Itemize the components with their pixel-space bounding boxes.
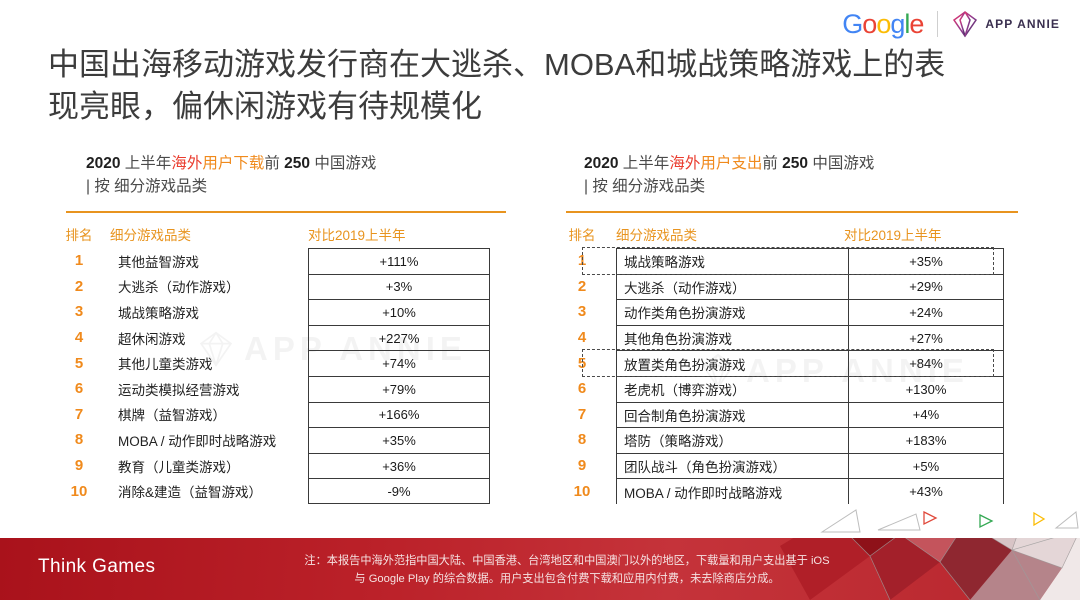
category-cell: 大逃杀（动作游戏） (616, 274, 848, 300)
category-cell: 运动类模拟经营游戏 (110, 376, 308, 402)
category-cell: 城战策略游戏 (110, 299, 308, 325)
table-row[interactable]: 9团队战斗（角色扮演游戏）+5% (548, 453, 1030, 479)
title-run: 前 (762, 155, 782, 172)
rank-cell: 3 (48, 299, 110, 325)
google-logo: Google (842, 11, 923, 38)
rank-cell: 3 (548, 299, 616, 325)
revenue-panel: 2020 上半年海外用户支出前 250 中国游戏 | 按 细分游戏品类 排名 细… (548, 152, 1030, 504)
growth-cell: +10% (308, 299, 490, 325)
table-row[interactable]: 3动作类角色扮演游戏+24% (548, 299, 1030, 325)
title-run: 2020 (584, 155, 623, 172)
app-annie-label: APP ANNIE (985, 17, 1060, 31)
rank-cell: 8 (548, 427, 616, 453)
growth-cell: +5% (848, 453, 1004, 479)
downloads-panel-title: 2020 上半年海外用户下载前 250 中国游戏 | 按 细分游戏品类 (48, 152, 510, 199)
growth-cell: +84% (848, 350, 1004, 376)
category-cell: 其他益智游戏 (110, 248, 308, 274)
table-row[interactable]: 6运动类模拟经营游戏+79% (48, 376, 510, 402)
rank-cell: 4 (48, 325, 110, 351)
title-run: 250 (782, 155, 808, 172)
column-header-value: 对比2019上半年 (308, 224, 498, 244)
column-header-rank: 排名 (48, 224, 110, 244)
table-row[interactable]: 8MOBA / 动作即时战略游戏+35% (48, 427, 510, 453)
growth-cell: +43% (848, 478, 1004, 504)
column-header-name: 细分游戏品类 (110, 224, 308, 244)
table-row[interactable]: 10MOBA / 动作即时战略游戏+43% (548, 478, 1030, 504)
downloads-column-headers: 排名 细分游戏品类 对比2019上半年 (48, 224, 510, 244)
category-cell: 大逃杀（动作游戏） (110, 274, 308, 300)
category-cell: 消除&建造（益智游戏） (110, 478, 308, 504)
category-cell: 回合制角色扮演游戏 (616, 402, 848, 428)
rank-cell: 7 (548, 402, 616, 428)
growth-cell: +227% (308, 325, 490, 351)
title-run: 用户支出 (700, 155, 762, 172)
downloads-panel: 2020 上半年海外用户下载前 250 中国游戏 | 按 细分游戏品类 排名 细… (48, 152, 510, 504)
rank-cell: 1 (548, 248, 616, 274)
growth-cell: +36% (308, 453, 490, 479)
title-run: 上半年 (623, 155, 670, 172)
growth-cell: +183% (848, 427, 1004, 453)
title-run: 中国游戏 (310, 155, 376, 172)
growth-cell: +35% (308, 427, 490, 453)
rank-cell: 10 (548, 478, 616, 504)
table-row[interactable]: 6老虎机（博弈游戏）+130% (548, 376, 1030, 402)
footer-note-line-1: 注：本报告中海外范指中国大陆、中国香港、台湾地区和中国澳门以外的地区，下载量和用… (172, 552, 962, 570)
logo-bar: Google APP ANNIE (842, 10, 1060, 38)
table-row[interactable]: 4其他角色扮演游戏+27% (548, 325, 1030, 351)
rank-cell: 5 (548, 350, 616, 376)
title-run: 用户下载 (202, 155, 264, 172)
category-cell: 塔防（策略游戏） (616, 427, 848, 453)
rank-cell: 4 (548, 325, 616, 351)
growth-cell: +27% (848, 325, 1004, 351)
growth-cell: -9% (308, 478, 490, 504)
table-row[interactable]: 8塔防（策略游戏）+183% (548, 427, 1030, 453)
rank-cell: 7 (48, 402, 110, 428)
growth-cell: +35% (848, 248, 1004, 274)
title-rich: 2020 上半年海外用户下载前 250 中国游戏 (86, 155, 376, 172)
category-cell: 其他儿童类游戏 (110, 350, 308, 376)
revenue-panel-title: 2020 上半年海外用户支出前 250 中国游戏 | 按 细分游戏品类 (548, 152, 1030, 199)
rank-cell: 1 (48, 248, 110, 274)
category-cell: 老虎机（博弈游戏） (616, 376, 848, 402)
category-cell: 动作类角色扮演游戏 (616, 299, 848, 325)
table-row[interactable]: 7回合制角色扮演游戏+4% (548, 402, 1030, 428)
category-cell: 放置类角色扮演游戏 (616, 350, 848, 376)
growth-cell: +4% (848, 402, 1004, 428)
table-row[interactable]: 4超休闲游戏+227% (48, 325, 510, 351)
slide-root: Google APP ANNIE (0, 0, 1080, 600)
rank-cell: 2 (48, 274, 110, 300)
table-row[interactable]: 1城战策略游戏+35% (548, 248, 1030, 274)
rank-cell: 8 (48, 427, 110, 453)
logo-divider (937, 11, 938, 37)
growth-cell: +166% (308, 402, 490, 428)
panel-divider (66, 211, 506, 214)
category-cell: 城战策略游戏 (616, 248, 848, 274)
title-run: 2020 (86, 155, 125, 172)
think-games-brand: Think Games (38, 556, 155, 578)
table-row[interactable]: 7棋牌（益智游戏）+166% (48, 402, 510, 428)
table-row[interactable]: 5放置类角色扮演游戏+84% (548, 350, 1030, 376)
decorative-triangles (820, 506, 1080, 538)
title-run: 海外 (669, 155, 700, 172)
revenue-panel-subtitle: | 按 细分游戏品类 (584, 178, 705, 195)
category-cell: MOBA / 动作即时战略游戏 (616, 478, 848, 504)
rank-cell: 10 (48, 478, 110, 504)
title-run: 海外 (171, 155, 202, 172)
column-header-rank: 排名 (548, 224, 616, 244)
category-cell: 教育（儿童类游戏） (110, 453, 308, 479)
rank-cell: 5 (48, 350, 110, 376)
growth-cell: +111% (308, 248, 490, 274)
table-row[interactable]: 10消除&建造（益智游戏）-9% (48, 478, 510, 504)
rank-cell: 6 (548, 376, 616, 402)
category-cell: 团队战斗（角色扮演游戏） (616, 453, 848, 479)
downloads-panel-subtitle: | 按 细分游戏品类 (86, 178, 207, 195)
growth-cell: +74% (308, 350, 490, 376)
page-title: 中国出海移动游戏发行商在大逃杀、MOBA和城战策略游戏上的表现亮眼，偏休闲游戏有… (48, 44, 948, 128)
title-run: 250 (284, 155, 310, 172)
growth-cell: +24% (848, 299, 1004, 325)
rank-cell: 9 (48, 453, 110, 479)
title-run: 上半年 (125, 155, 172, 172)
footer-note: 注：本报告中海外范指中国大陆、中国香港、台湾地区和中国澳门以外的地区，下载量和用… (172, 552, 962, 589)
revenue-column-headers: 排名 细分游戏品类 对比2019上半年 (548, 224, 1030, 244)
revenue-table: 1城战策略游戏+35%2大逃杀（动作游戏）+29%3动作类角色扮演游戏+24%4… (548, 248, 1030, 504)
footer-note-line-2: 与 Google Play 的综合数据。用户支出包含付费下载和应用内付费，未去除… (172, 570, 962, 588)
rank-cell: 6 (48, 376, 110, 402)
app-annie-logo: APP ANNIE (952, 10, 1060, 38)
growth-cell: +29% (848, 274, 1004, 300)
table-row[interactable]: 5其他儿童类游戏+74% (48, 350, 510, 376)
table-row[interactable]: 2大逃杀（动作游戏）+29% (548, 274, 1030, 300)
column-header-value: 对比2019上半年 (844, 224, 1020, 244)
downloads-table: 1其他益智游戏+111%2大逃杀（动作游戏）+3%3城战策略游戏+10%4超休闲… (48, 248, 510, 504)
growth-cell: +3% (308, 274, 490, 300)
table-row[interactable]: 2大逃杀（动作游戏）+3% (48, 274, 510, 300)
table-row[interactable]: 9教育（儿童类游戏）+36% (48, 453, 510, 479)
growth-cell: +79% (308, 376, 490, 402)
title-rich: 2020 上半年海外用户支出前 250 中国游戏 (584, 155, 874, 172)
rank-cell: 2 (548, 274, 616, 300)
category-cell: MOBA / 动作即时战略游戏 (110, 427, 308, 453)
rank-cell: 9 (548, 453, 616, 479)
category-cell: 其他角色扮演游戏 (616, 325, 848, 351)
category-cell: 棋牌（益智游戏） (110, 402, 308, 428)
title-run: 前 (264, 155, 284, 172)
column-header-name: 细分游戏品类 (616, 224, 844, 244)
table-row[interactable]: 1其他益智游戏+111% (48, 248, 510, 274)
growth-cell: +130% (848, 376, 1004, 402)
panel-divider (566, 211, 1018, 214)
title-run: 中国游戏 (808, 155, 874, 172)
footer: Think Games 注：本报告中海外范指中国大陆、中国香港、台湾地区和中国澳… (0, 538, 1080, 600)
table-row[interactable]: 3城战策略游戏+10% (48, 299, 510, 325)
category-cell: 超休闲游戏 (110, 325, 308, 351)
diamond-icon (952, 10, 978, 38)
